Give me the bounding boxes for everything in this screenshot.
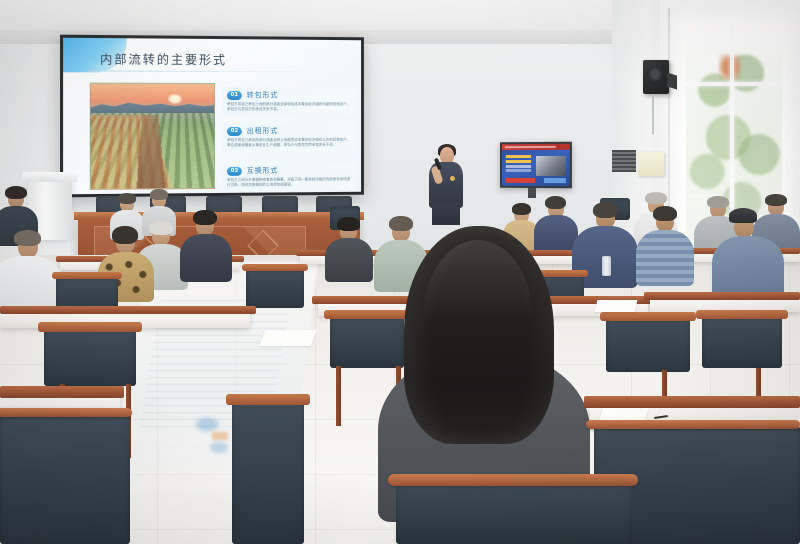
attendee-hair <box>389 216 413 231</box>
attendee-hair <box>149 221 173 235</box>
slide-bullet-02-heading: 出租形式 <box>247 126 279 136</box>
slide-bullet-03-heading: 互换形式 <box>247 166 279 176</box>
chair <box>44 328 136 386</box>
attendee-hair <box>645 192 667 204</box>
photo-sun <box>168 94 182 104</box>
monitor-image-panel <box>536 156 566 176</box>
slide-bullet-01-head: 01 转包形式 <box>227 90 352 100</box>
handout-paper <box>259 330 317 346</box>
attendee-hair <box>112 226 138 244</box>
wall-information-display[interactable] <box>500 142 572 189</box>
projection-screen[interactable]: 内部流转的主要形式 01 转包形式 承包方将自己承包土地的部分或者全部转包给本集… <box>60 35 364 198</box>
chair-rail <box>242 264 308 271</box>
attendee-hair <box>653 206 677 221</box>
monitor-stand <box>528 188 536 198</box>
chair-armrest <box>586 420 800 429</box>
attendee-hair <box>765 194 787 206</box>
slide-bullet-03-head: 03 互换形式 <box>227 165 352 176</box>
attendee-hair <box>337 217 360 231</box>
presenter-badge <box>450 176 455 181</box>
chair-rail <box>696 310 788 319</box>
attendee-hair <box>512 203 531 215</box>
speaker-icon <box>643 60 669 94</box>
attendee-body <box>325 238 373 282</box>
chair <box>396 480 632 544</box>
chair-rail <box>38 322 142 332</box>
chair-rail <box>324 310 410 319</box>
attendee-hair <box>707 196 729 208</box>
chair-leg <box>336 366 341 426</box>
photo-hills <box>91 100 214 113</box>
attendee-hair <box>118 193 136 204</box>
monitor-screen <box>502 144 570 187</box>
monitor-blue-tag <box>544 178 566 183</box>
chair-rail <box>600 312 696 321</box>
chair <box>0 414 130 544</box>
monitor-header-bar <box>502 144 570 150</box>
ac-vent-icon <box>612 150 636 172</box>
floor-reflection-blue <box>210 442 228 453</box>
slide-bullet-02-body: 承包方将自己承包的部分或者全部土地租赁给本集体经济组织以外的其他农户、单位或者经… <box>227 138 352 148</box>
chair <box>330 316 404 368</box>
attendee-hair <box>14 230 41 246</box>
attendee-hair <box>593 202 618 218</box>
handout-paper <box>595 300 638 312</box>
presentation-slide: 内部流转的主要形式 01 转包形式 承包方将自己承包土地的部分或者全部转包给本集… <box>63 38 361 195</box>
slide-photo-farmland <box>90 83 215 190</box>
chair-rail <box>52 272 122 279</box>
desk-edge <box>644 292 800 300</box>
slide-bullet-01-heading: 转包形式 <box>247 90 279 100</box>
slide-bullet-02-head: 02 出租形式 <box>227 126 352 136</box>
attendee-hair <box>545 196 566 209</box>
monitor-red-banner <box>506 178 535 183</box>
desk-edge <box>0 386 124 398</box>
chair-armrest <box>0 408 132 417</box>
attendee-body <box>636 230 694 286</box>
attendee-hair <box>5 186 27 199</box>
attendee-hair <box>150 189 168 200</box>
chair-rail <box>226 394 310 405</box>
conference-room-scene: 内部流转的主要形式 01 转包形式 承包方将自己承包土地的部分或者全部转包给本集… <box>0 0 800 544</box>
slide-bullet-01-body: 承包方将自己承包土地的部分或者全部转包给本集体经济组织内部的其他农户，承包方与发… <box>227 102 352 112</box>
cap-icon <box>729 208 757 223</box>
slide-bullet-03-body: 承包方之间为方便耕种或者各自需要，对属于同一集体经济组织内的承包地块进行交换，同… <box>227 177 352 188</box>
attendee-body <box>180 234 232 282</box>
floor-reflection-blue <box>196 418 218 431</box>
slide-bullet-01-number: 01 <box>227 91 242 100</box>
lectern-top <box>21 172 79 182</box>
speaker-bracket <box>667 72 677 89</box>
chair <box>702 316 782 368</box>
attendee-hair-highlight <box>424 240 532 390</box>
desk-edge <box>584 396 800 408</box>
slide-bullet-01: 01 转包形式 承包方将自己承包土地的部分或者全部转包给本集体经济组织内部的其他… <box>223 87 356 115</box>
monitor-text-block <box>506 155 531 158</box>
floor-reflection-orange <box>212 432 228 440</box>
slide-bullet-02-number: 02 <box>227 126 242 135</box>
slide-bullet-02: 02 出租形式 承包方将自己承包的部分或者全部土地租赁给本集体经济组织以外的其他… <box>223 123 356 151</box>
slide-title: 内部流转的主要形式 <box>100 50 227 68</box>
ac-unit-icon <box>638 152 664 176</box>
chair <box>606 318 690 372</box>
slide-bullet-03: 03 互换形式 承包方之间为方便耕种或者各自需要，对属于同一集体经济组织内的承包… <box>223 162 356 191</box>
chair-armrest <box>388 474 638 486</box>
presenter-lower <box>432 203 460 225</box>
water-cup <box>602 256 611 276</box>
slide-bullet-03-number: 03 <box>227 166 242 175</box>
speaker-pole <box>652 94 654 134</box>
desk-edge <box>0 306 256 314</box>
chair <box>246 268 304 308</box>
attendee-hair <box>193 210 217 225</box>
slide-title-rule <box>88 70 337 72</box>
chair <box>232 400 304 544</box>
attendee-body <box>712 236 784 300</box>
